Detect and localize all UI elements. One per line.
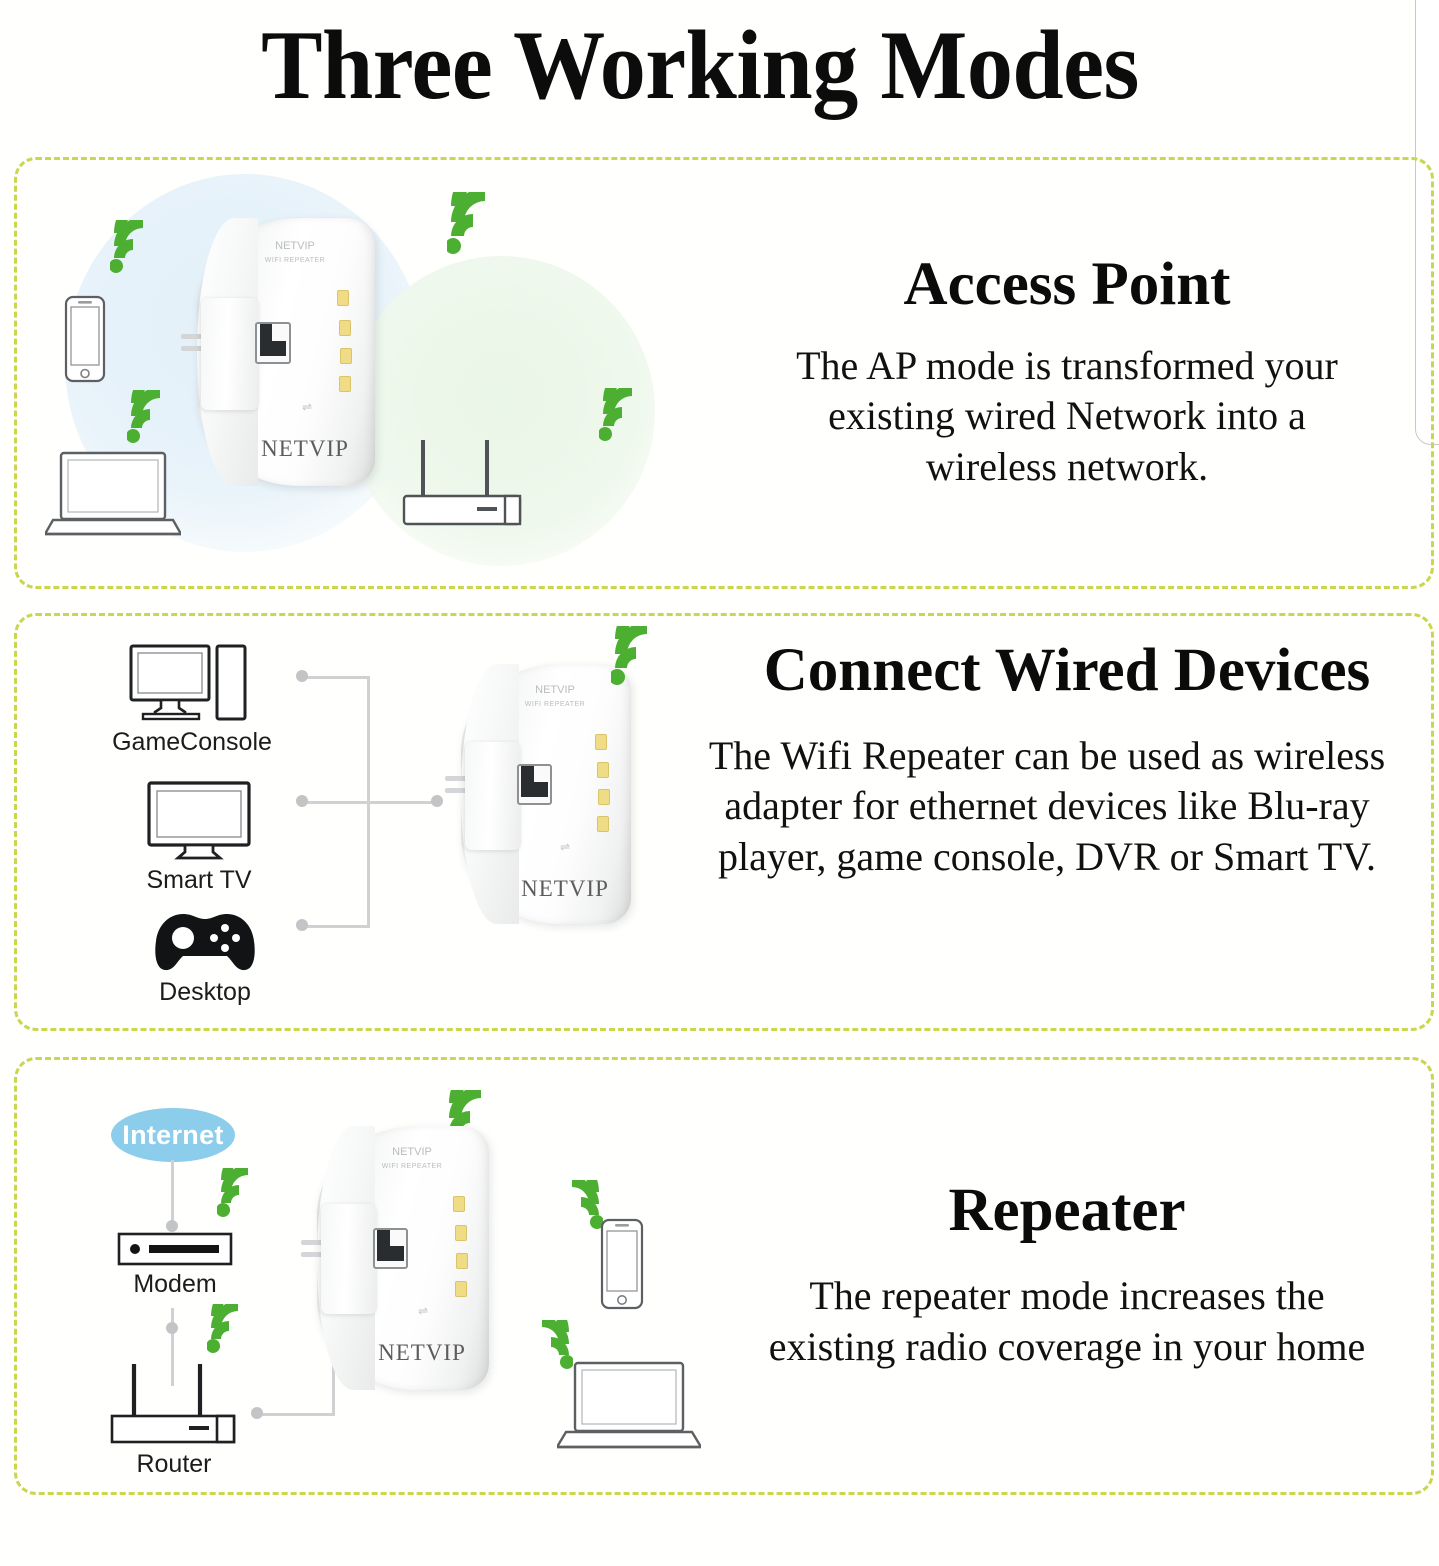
access-point-text-block: Access Point The AP mode is transformed …: [717, 160, 1417, 586]
router-icon: [109, 1360, 237, 1446]
access-point-description: The AP mode is transformed your existing…: [767, 341, 1367, 492]
panel-connect-wired-devices: GameConsole Smart TV: [14, 613, 1434, 1031]
connector-node: [431, 795, 443, 807]
repeater-heading: Repeater: [948, 1180, 1185, 1241]
device-caption-router: Router: [89, 1450, 259, 1479]
device-plug-prong: [301, 1240, 323, 1245]
smartphone-icon: [600, 1218, 644, 1310]
device-top-logo-text: NETVIP: [392, 1146, 432, 1158]
device-plug-prong: [445, 776, 467, 781]
internet-label: Internet: [122, 1120, 223, 1151]
device-plug-prong: [181, 334, 203, 339]
wifi-signal-icon: [127, 390, 189, 448]
ethernet-port: [373, 1228, 408, 1269]
device-top-sub-text: WIFI REPEATER: [525, 701, 585, 708]
device-led-indicator: [455, 1225, 467, 1241]
device-top-logo: NETVIP WIFI REPEATER: [515, 684, 595, 709]
device-led-indicator: [595, 734, 607, 750]
connector-line: [302, 925, 369, 928]
wifi-signal-icon: [110, 220, 172, 278]
repeater-description: The repeater mode increases the existing…: [767, 1271, 1367, 1372]
ethernet-port: [517, 764, 552, 805]
wired-devices-text-block: Connect Wired Devices The Wifi Repeater …: [617, 616, 1439, 1028]
television-icon: [147, 781, 251, 861]
device-led-indicator: [456, 1253, 468, 1269]
device-led-indicator: [340, 348, 352, 364]
connector-line: [257, 1413, 335, 1416]
access-point-illustration: NETVIP WIFI REPEATER ⇌ NETVIP: [17, 160, 717, 586]
device-plug-block: [465, 742, 521, 850]
device-brand-logo: NETVIP: [515, 876, 615, 902]
wifi-signal-icon: [599, 388, 661, 446]
device-top-sub-text: WIFI REPEATER: [382, 1163, 442, 1170]
device-led-indicator: [339, 376, 351, 392]
wps-icon: ⇌: [547, 840, 583, 854]
desktop-computer-icon: [129, 644, 247, 722]
wired-devices-description: The Wifi Repeater can be used as wireles…: [687, 731, 1407, 882]
connector-node: [166, 1220, 178, 1232]
wifi-signal-icon: [447, 192, 521, 258]
connector-line: [302, 676, 369, 679]
device-plug-prong: [181, 346, 203, 351]
device-led-indicator: [339, 320, 351, 336]
connector-node: [296, 919, 308, 931]
netvip-repeater-device: NETVIP WIFI REPEATER ⇌ NETVIP: [461, 664, 631, 924]
device-top-logo: NETVIP WIFI REPEATER: [255, 240, 335, 265]
wired-devices-heading: Connect Wired Devices: [764, 640, 1371, 701]
connector-node: [166, 1322, 178, 1334]
device-brand-logo: NETVIP: [255, 436, 355, 462]
device-caption-desktop: Desktop: [120, 978, 290, 1007]
wired-devices-illustration: GameConsole Smart TV: [17, 616, 657, 1028]
laptop-icon: [45, 450, 181, 540]
gamepad-icon: [153, 911, 257, 973]
wifi-signal-icon: [545, 1180, 603, 1234]
device-plug-prong: [445, 788, 467, 793]
connector-node: [296, 795, 308, 807]
device-led-indicator: [455, 1281, 467, 1297]
device-led-indicator: [598, 789, 610, 805]
repeater-text-block: Repeater The repeater mode increases the…: [717, 1060, 1417, 1492]
netvip-repeater-device: NETVIP WIFI REPEATER ⇌ NETVIP: [197, 218, 375, 486]
router-icon: [401, 434, 523, 528]
wps-icon: ⇌: [405, 1304, 441, 1318]
access-point-heading: Access Point: [904, 254, 1231, 315]
connector-node: [296, 670, 308, 682]
page-title: Three Working Modes: [49, 14, 1351, 118]
panel-access-point: NETVIP WIFI REPEATER ⇌ NETVIP Access Poi…: [14, 157, 1434, 589]
device-plug-block: [201, 298, 259, 410]
device-led-indicator: [597, 762, 609, 778]
connector-line: [302, 801, 437, 804]
connector-line: [171, 1160, 174, 1226]
modem-icon: [117, 1232, 233, 1266]
device-caption-modem: Modem: [90, 1270, 260, 1299]
device-plug-block: [321, 1204, 377, 1314]
connector-node: [251, 1407, 263, 1419]
device-caption-gameconsole: GameConsole: [107, 728, 277, 757]
device-brand-logo: NETVIP: [372, 1340, 472, 1366]
device-led-indicator: [453, 1196, 465, 1212]
device-top-logo-text: NETVIP: [535, 684, 575, 696]
device-plug-prong: [301, 1252, 323, 1257]
device-caption-smart-tv: Smart TV: [114, 866, 284, 895]
device-top-logo: NETVIP WIFI REPEATER: [372, 1146, 452, 1171]
netvip-repeater-device: NETVIP WIFI REPEATER ⇌ NETVIP: [317, 1126, 489, 1390]
device-led-indicator: [337, 290, 349, 306]
ethernet-port: [255, 322, 291, 364]
wps-icon: ⇌: [289, 400, 325, 414]
repeater-illustration: Internet Modem: [17, 1060, 717, 1492]
device-led-indicator: [597, 816, 609, 832]
wifi-signal-icon: [217, 1168, 275, 1222]
laptop-icon: [557, 1360, 701, 1454]
device-top-logo-text: NETVIP: [275, 240, 315, 252]
internet-bubble: Internet: [111, 1108, 235, 1162]
device-top-sub-text: WIFI REPEATER: [265, 257, 325, 264]
wifi-signal-icon: [207, 1304, 265, 1358]
smartphone-icon: [64, 295, 106, 383]
panel-repeater: Internet Modem: [14, 1057, 1434, 1495]
